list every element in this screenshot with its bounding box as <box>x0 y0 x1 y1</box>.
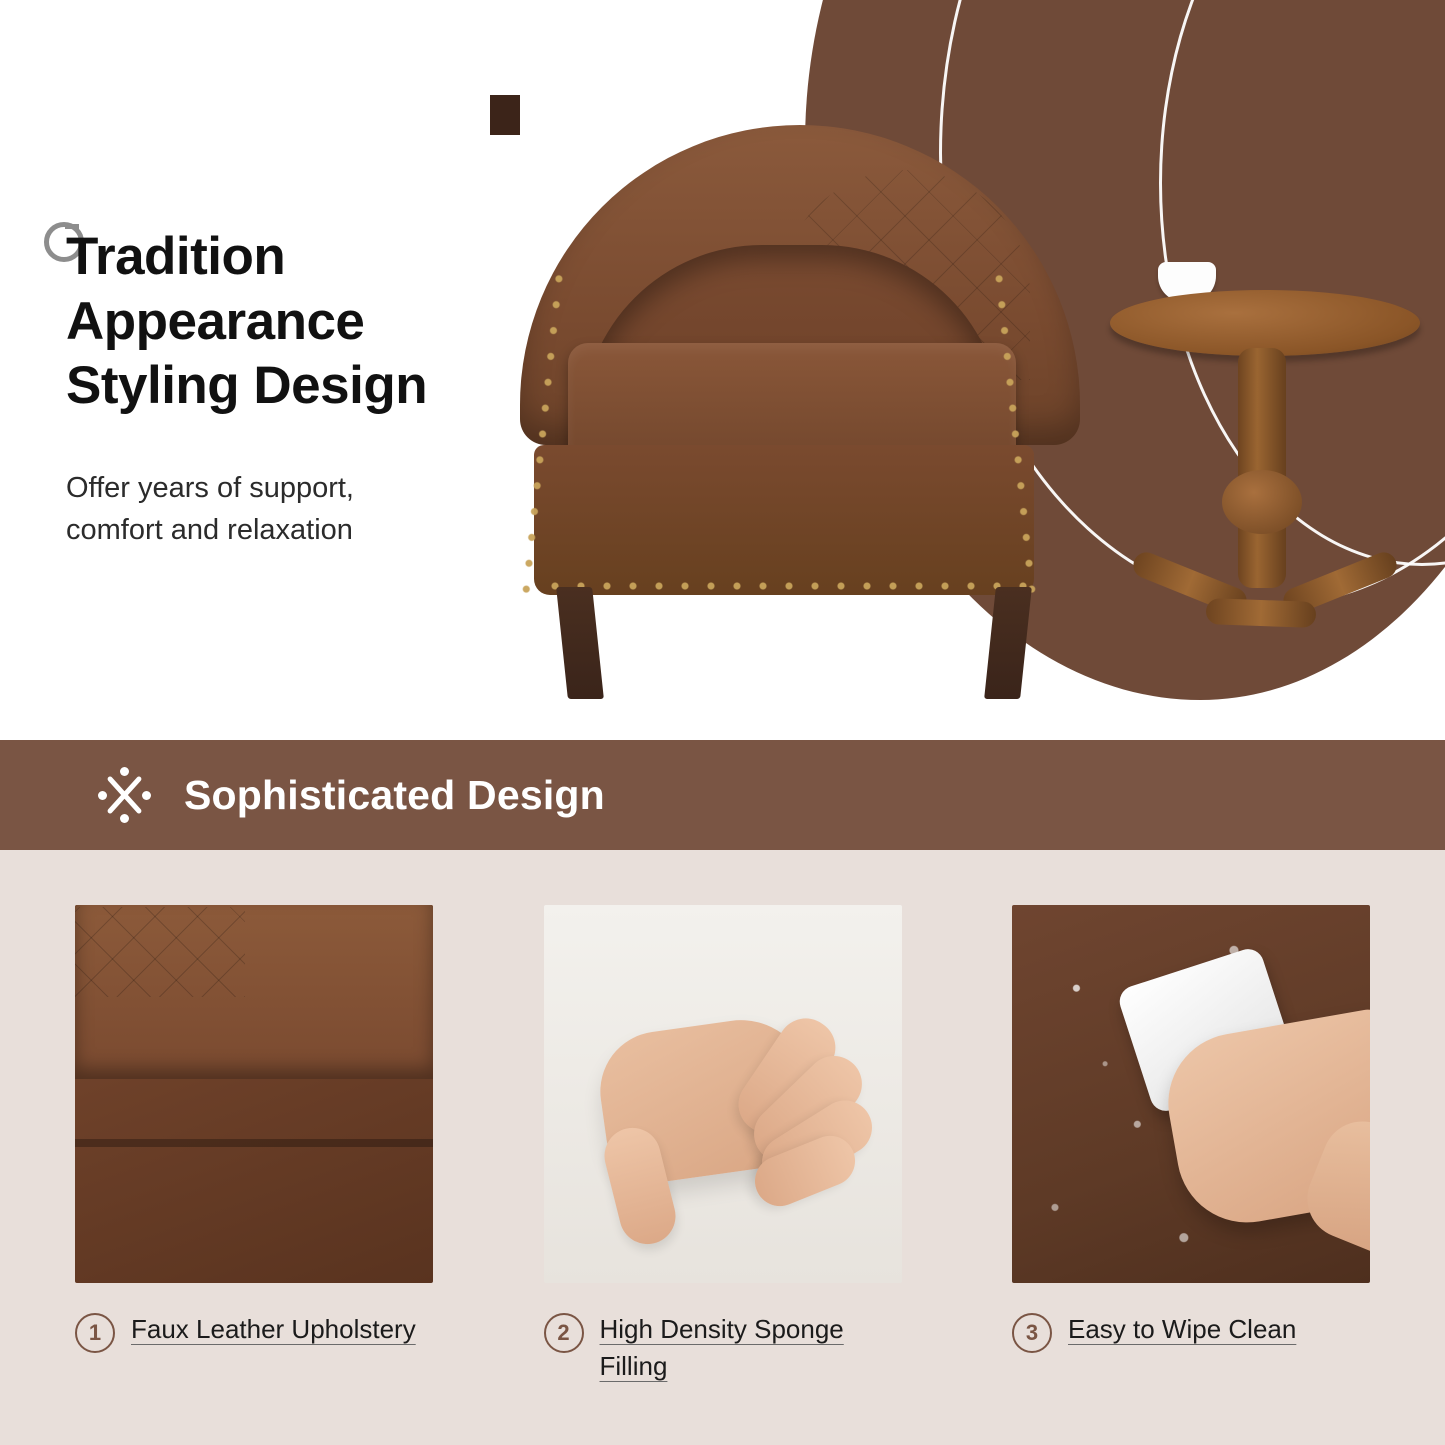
feature-number-badge-2: 2 <box>544 1313 584 1353</box>
table-foot-front <box>1206 598 1317 628</box>
table-top <box>1110 290 1420 356</box>
feature-image-wipe-clean <box>1012 905 1370 1283</box>
hero-subtitle: Offer years of support, comfort and rela… <box>66 467 536 551</box>
features-section: 1 Faux Leather Upholstery 2 High Density… <box>0 850 1445 1445</box>
feature-caption-text-1: Faux Leather Upholstery <box>131 1311 416 1348</box>
hero-title-line-2: Appearance <box>66 292 364 351</box>
hero-section: Tradition Appearance Styling Design Offe… <box>0 0 1445 740</box>
feature-number-badge-3: 3 <box>1012 1313 1052 1353</box>
hero-subtitle-line-2: comfort and relaxation <box>66 514 353 546</box>
chair-leg-center <box>490 95 520 135</box>
feature-card-list: 1 Faux Leather Upholstery 2 High Density… <box>75 905 1370 1385</box>
product-feature-page: Tradition Appearance Styling Design Offe… <box>0 0 1445 1445</box>
chair-image <box>490 95 1110 725</box>
feature-card-3: 3 Easy to Wipe Clean <box>1012 905 1370 1385</box>
feature-caption-3: 3 Easy to Wipe Clean <box>1012 1311 1370 1353</box>
feature-caption-text-3: Easy to Wipe Clean <box>1068 1311 1296 1348</box>
banner-title: Sophisticated Design <box>184 772 605 819</box>
chair-leg-left <box>556 587 604 699</box>
feature-caption-2: 2 High Density Sponge Filling <box>544 1311 902 1385</box>
feature-number-badge-1: 1 <box>75 1313 115 1353</box>
hero-text-block: Tradition Appearance Styling Design Offe… <box>66 225 536 580</box>
side-table-image <box>1110 270 1440 700</box>
feature-caption-text-2: High Density Sponge Filling <box>600 1311 902 1385</box>
page-title: Tradition Appearance Styling Design <box>66 225 536 419</box>
feature-caption-1: 1 Faux Leather Upholstery <box>75 1311 433 1353</box>
feature-image-sponge <box>544 905 902 1283</box>
feature-card-1: 1 Faux Leather Upholstery <box>75 905 433 1385</box>
table-pedestal-bulb <box>1222 470 1302 534</box>
sparkle-cross-icon <box>96 767 152 823</box>
hero-title-line-3: Styling Design <box>66 356 427 415</box>
chair-leg-right <box>984 587 1032 699</box>
hero-title-line-1: Tradition <box>66 227 285 286</box>
feature-image-leather <box>75 905 433 1283</box>
nailhead-trim-bottom <box>542 573 1032 599</box>
feature-card-2: 2 High Density Sponge Filling <box>544 905 902 1385</box>
hero-subtitle-line-1: Offer years of support, <box>66 472 354 504</box>
section-banner: Sophisticated Design <box>0 740 1445 850</box>
table-pedestal <box>1238 348 1286 588</box>
